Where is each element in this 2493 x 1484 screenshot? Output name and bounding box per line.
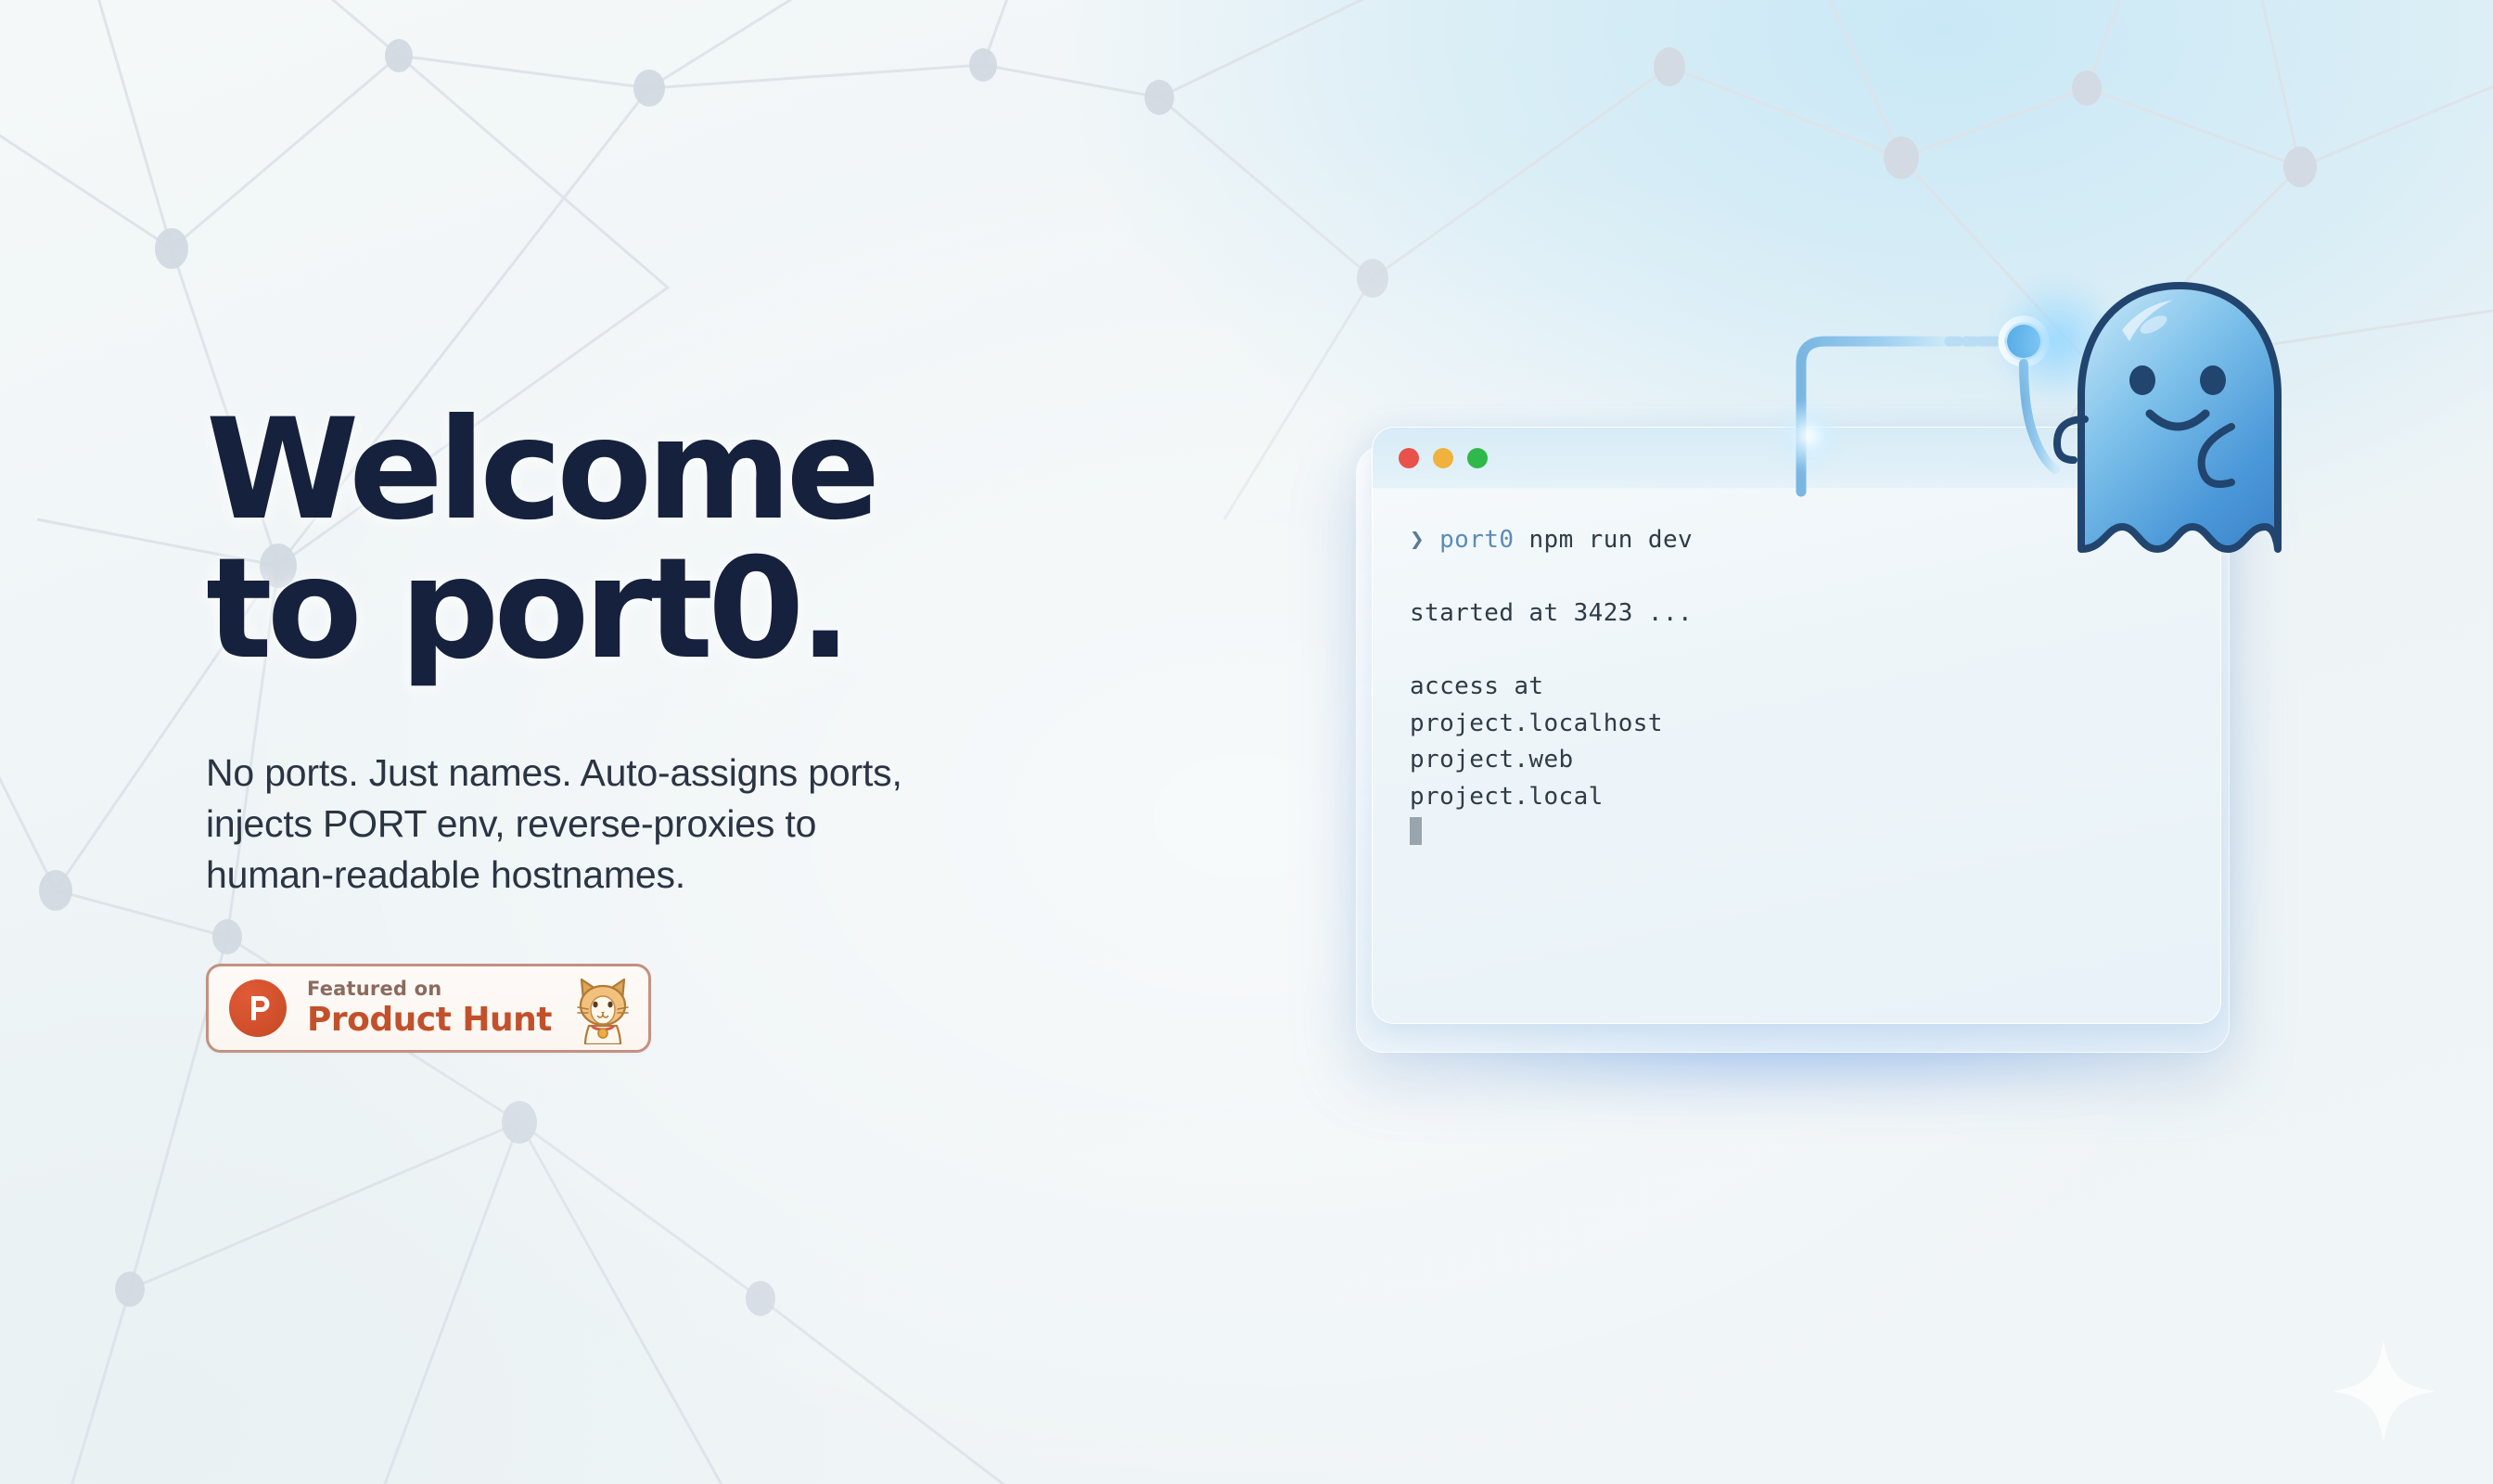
terminal-output-line-host-3: project.local xyxy=(1410,779,2183,816)
hero-subtitle-line-2: injects PORT env, reverse-proxies to xyxy=(206,799,1198,850)
page-title-line-1: Welcome xyxy=(206,401,1245,540)
hero-subtitle: No ports. Just names. Auto-assigns ports… xyxy=(206,748,1198,901)
terminal-command: npm run dev xyxy=(1528,526,1693,554)
hero-left-column: Welcome to port0. No ports. Just names. … xyxy=(206,401,1245,1053)
product-hunt-badge[interactable]: Featured on Product Hunt xyxy=(206,964,651,1053)
product-hunt-text: Featured on Product Hunt xyxy=(307,979,552,1037)
hero-subtitle-line-3: human-readable hostnames. xyxy=(206,850,1198,901)
traffic-light-close-icon[interactable] xyxy=(1399,448,1419,468)
traffic-light-minimize-icon[interactable] xyxy=(1433,448,1453,468)
page-title: Welcome to port0. xyxy=(206,401,1245,679)
product-hunt-logo-icon xyxy=(229,979,287,1037)
cable-spark xyxy=(1771,399,1846,473)
cat-mascot-icon xyxy=(572,972,633,1044)
terminal-chevron-icon: ❯ xyxy=(1410,526,1425,554)
terminal-command-prefix: port0 xyxy=(1439,526,1514,554)
terminal-output-line-access: access at xyxy=(1410,669,2183,706)
product-hunt-featured-label: Featured on xyxy=(307,979,552,999)
terminal-cursor xyxy=(1410,817,1422,845)
terminal-output-line-host-2: project.web xyxy=(1410,742,2183,779)
traffic-light-maximize-icon[interactable] xyxy=(1467,448,1488,468)
hero-subtitle-line-1: No ports. Just names. Auto-assigns ports… xyxy=(206,748,1198,799)
terminal-cursor-line xyxy=(1410,815,2183,852)
product-hunt-name-label: Product Hunt xyxy=(307,1004,552,1037)
page-title-line-2: to port0. xyxy=(206,540,1245,679)
sparkle-decoration xyxy=(2328,1336,2439,1447)
terminal-output-line-host-1: project.localhost xyxy=(1410,706,2183,743)
port0-ghost-mascot xyxy=(2050,278,2309,556)
